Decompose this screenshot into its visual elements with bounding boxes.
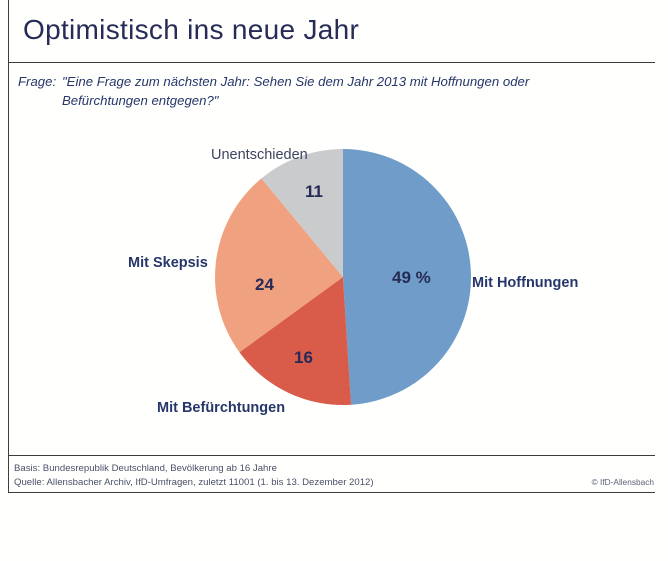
footer-source: Quelle: Allensbacher Archiv, IfD-Umfrage… [14,477,374,488]
pie-value-mit-befuerchtungen: 16 [294,348,313,368]
pie-label-mit-skepsis: Mit Skepsis [128,255,208,271]
pie-value-mit-hoffnungen: 49 % [392,268,431,288]
title-divider [8,62,655,63]
question-label: Frage: [18,72,62,91]
footer: Basis: Bundesrepublik Deutschland, Bevöl… [0,455,668,495]
question-block: Frage:"Eine Frage zum nächsten Jahr: Seh… [18,72,628,110]
footer-basis: Basis: Bundesrepublik Deutschland, Bevöl… [14,463,277,474]
pie-label-mit-befuerchtungen: Mit Befürchtungen [157,400,285,416]
footer-copyright: © IfD-Allensbach [592,477,654,487]
page-title: Optimistisch ins neue Jahr [23,14,623,46]
question-text: "Eine Frage zum nächsten Jahr: Sehen Sie… [62,72,614,110]
pie-label-mit-hoffnungen: Mit Hoffnungen [472,275,578,291]
pie-value-unentschieden: 11 [305,182,323,202]
pie-value-mit-skepsis: 24 [255,275,274,295]
footer-divider [8,455,655,456]
infographic-card: Optimistisch ins neue Jahr Frage:"Eine F… [0,0,668,561]
pie-label-unentschieden: Unentschieden [211,147,308,163]
pie-chart: 49 % 16 24 11 Mit Hoffnungen Mit Befürch… [0,120,668,450]
